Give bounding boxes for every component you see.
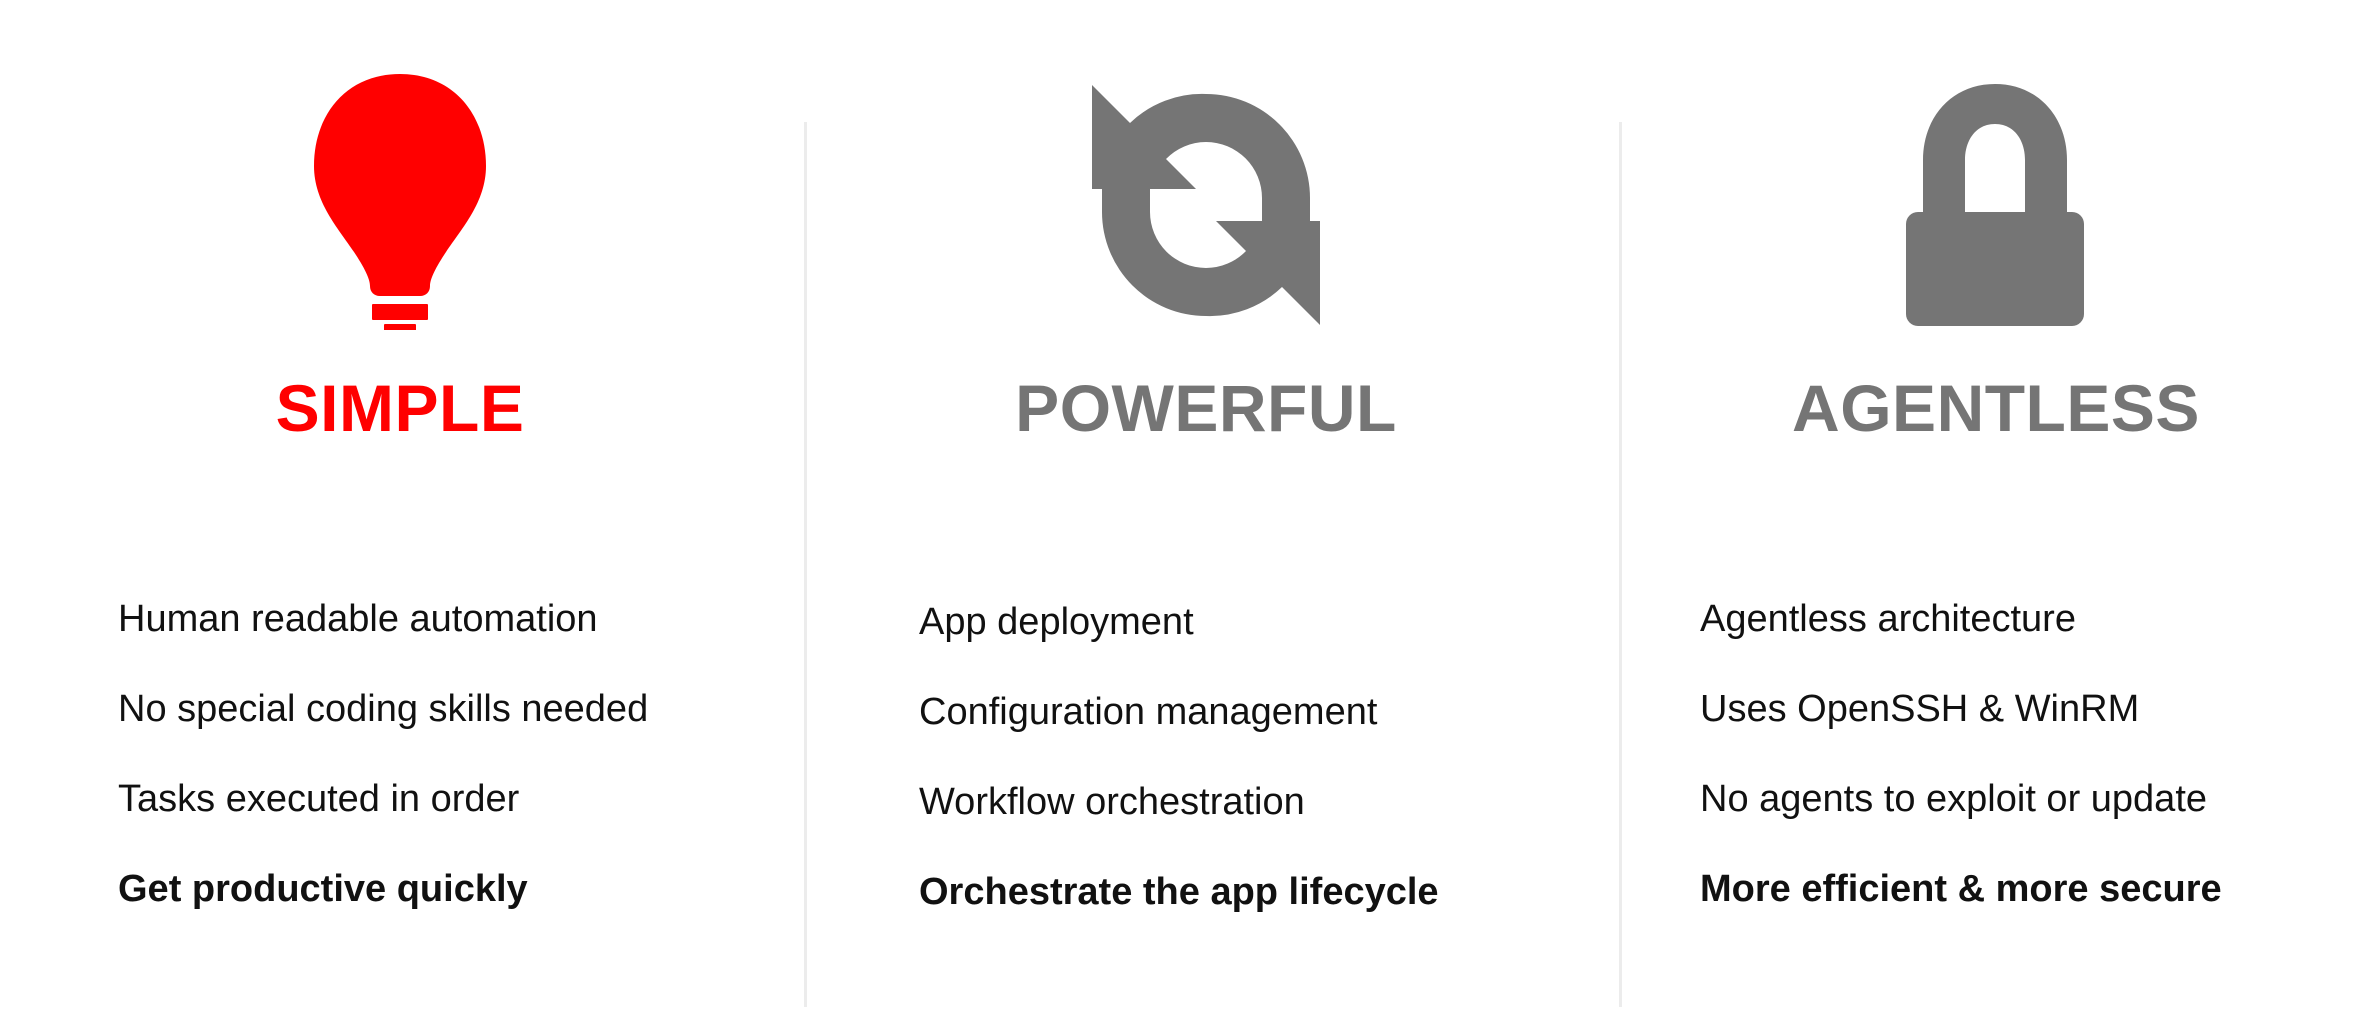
refresh-sync-arrows-icon-container [807,40,1619,330]
feature-column-simple: SIMPLE Human readable automation No spec… [0,0,804,1019]
list-item: Configuration management [919,693,1439,783]
padlock-icon-container [1622,40,2380,330]
list-item: Human readable automation [118,600,648,690]
feature-list-powerful: App deployment Configuration management … [919,603,1439,911]
list-item: Uses OpenSSH & WinRM [1700,690,2222,780]
lightbulb-icon-container [0,40,804,330]
refresh-sync-arrows-icon [1086,80,1326,330]
features-three-column-board: SIMPLE Human readable automation No spec… [0,0,2380,1019]
list-item: Tasks executed in order [118,780,648,870]
list-item-highlight: More efficient & more secure [1700,870,2222,908]
list-item: Agentless architecture [1700,600,2222,690]
feature-column-agentless: AGENTLESS Agentless architecture Uses Op… [1622,0,2380,1019]
feature-column-powerful: POWERFUL App deployment Configuration ma… [807,0,1619,1019]
list-item-highlight: Orchestrate the app lifecycle [919,873,1439,911]
padlock-icon [1890,80,2100,330]
column-heading-simple: SIMPLE [0,370,804,446]
column-heading-powerful: POWERFUL [807,370,1619,446]
list-item: App deployment [919,603,1439,693]
feature-list-agentless: Agentless architecture Uses OpenSSH & Wi… [1700,600,2222,908]
lightbulb-icon [300,70,500,330]
column-heading-agentless: AGENTLESS [1622,370,2380,446]
list-item: Workflow orchestration [919,783,1439,873]
feature-list-simple: Human readable automation No special cod… [118,600,648,908]
list-item-highlight: Get productive quickly [118,870,648,908]
list-item: No special coding skills needed [118,690,648,780]
list-item: No agents to exploit or update [1700,780,2222,870]
